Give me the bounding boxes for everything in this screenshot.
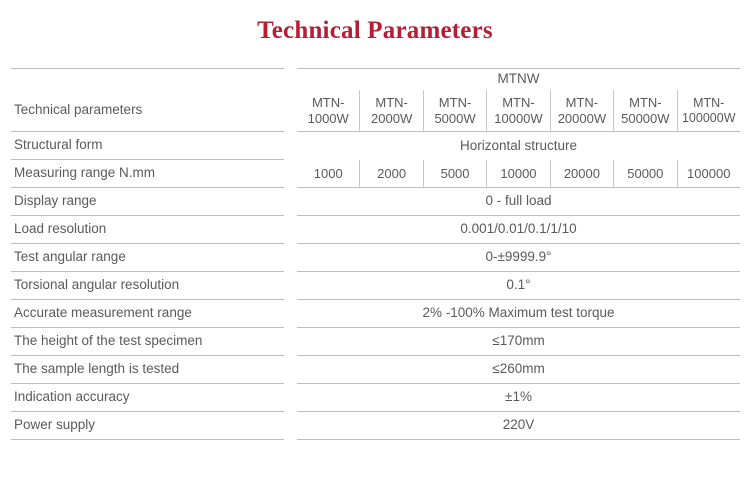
column-gap xyxy=(284,160,297,188)
page-title: Technical Parameters xyxy=(0,17,750,45)
model-column-4: MTN-10000W xyxy=(487,90,550,131)
range-value-4: 10000 xyxy=(487,160,550,187)
range-value-5: 20000 xyxy=(551,160,614,187)
column-gap xyxy=(284,132,297,160)
row-value: ±1% xyxy=(297,384,740,412)
row-value: 2% -100% Maximum test torque xyxy=(297,300,740,328)
model-column-1: MTN-1000W xyxy=(297,90,360,131)
table-row-model-header: Technical parameters MTN-1000W MTN-2000W… xyxy=(0,90,750,132)
table-row: Accurate measurement range 2% -100% Maxi… xyxy=(0,300,750,328)
column-gap xyxy=(284,328,297,356)
table-row: Load resolution 0.001/0.01/0.1/1/10 xyxy=(0,216,750,244)
technical-parameters-page: Technical Parameters MTNW Technical para… xyxy=(0,0,750,477)
row-label: Accurate measurement range xyxy=(11,300,284,328)
model-column-3: MTN-5000W xyxy=(424,90,487,131)
series-header-cell: MTNW xyxy=(297,68,740,90)
row-value: 0.001/0.01/0.1/1/10 xyxy=(297,216,740,244)
row-label: Load resolution xyxy=(11,216,284,244)
table-row-series-header: MTNW xyxy=(0,68,750,90)
row-value: 0.1° xyxy=(297,272,740,300)
column-gap xyxy=(284,272,297,300)
column-gap xyxy=(284,244,297,272)
row-label: Structural form xyxy=(11,132,284,160)
column-gap xyxy=(284,188,297,216)
model-column-7: MTN-100000W xyxy=(678,90,740,131)
row-value: 220V xyxy=(297,412,740,440)
table-row: The sample length is tested ≤260mm xyxy=(0,356,750,384)
range-value-7: 100000 xyxy=(678,160,740,187)
model-column-5: MTN-20000W xyxy=(551,90,614,131)
row-label: Power supply xyxy=(11,412,284,440)
column-gap xyxy=(284,216,297,244)
row-value-cells: 1000 2000 5000 10000 20000 50000 100000 xyxy=(297,160,740,188)
table-row: Measuring range N.mm 1000 2000 5000 1000… xyxy=(0,160,750,188)
row-label: Measuring range N.mm xyxy=(11,160,284,188)
range-value-6: 50000 xyxy=(614,160,677,187)
table-row: Power supply 220V xyxy=(0,412,750,440)
row-label: The sample length is tested xyxy=(11,356,284,384)
column-gap xyxy=(284,300,297,328)
model-column-6: MTN-50000W xyxy=(614,90,677,131)
row-value: 0-±9999.9° xyxy=(297,244,740,272)
model-column-2: MTN-2000W xyxy=(360,90,423,131)
parameters-table: MTNW Technical parameters MTN-1000W MTN-… xyxy=(0,68,750,440)
row-label: Test angular range xyxy=(11,244,284,272)
column-gap xyxy=(284,90,297,132)
column-gap xyxy=(284,356,297,384)
table-row: The height of the test specimen ≤170mm xyxy=(0,328,750,356)
row-label: Torsional angular resolution xyxy=(11,272,284,300)
column-gap xyxy=(284,412,297,440)
row-value: ≤260mm xyxy=(297,356,740,384)
row-label: Display range xyxy=(11,188,284,216)
row-value: ≤170mm xyxy=(297,328,740,356)
table-row: Test angular range 0-±9999.9° xyxy=(0,244,750,272)
table-row: Torsional angular resolution 0.1° xyxy=(0,272,750,300)
range-value-3: 5000 xyxy=(424,160,487,187)
row-value: Horizontal structure xyxy=(297,132,740,160)
row-label: Indication accuracy xyxy=(11,384,284,412)
left-header-cell: Technical parameters xyxy=(11,90,284,132)
row-label: The height of the test specimen xyxy=(11,328,284,356)
model-header-cells: MTN-1000W MTN-2000W MTN-5000W MTN-10000W… xyxy=(297,90,740,132)
range-value-1: 1000 xyxy=(297,160,360,187)
range-value-2: 2000 xyxy=(360,160,423,187)
left-column-top-rule xyxy=(11,68,284,90)
table-row: Structural form Horizontal structure xyxy=(0,132,750,160)
table-row: Display range 0 - full load xyxy=(0,188,750,216)
row-value: 0 - full load xyxy=(297,188,740,216)
column-gap xyxy=(284,384,297,412)
column-gap xyxy=(284,68,297,90)
table-row: Indication accuracy ±1% xyxy=(0,384,750,412)
